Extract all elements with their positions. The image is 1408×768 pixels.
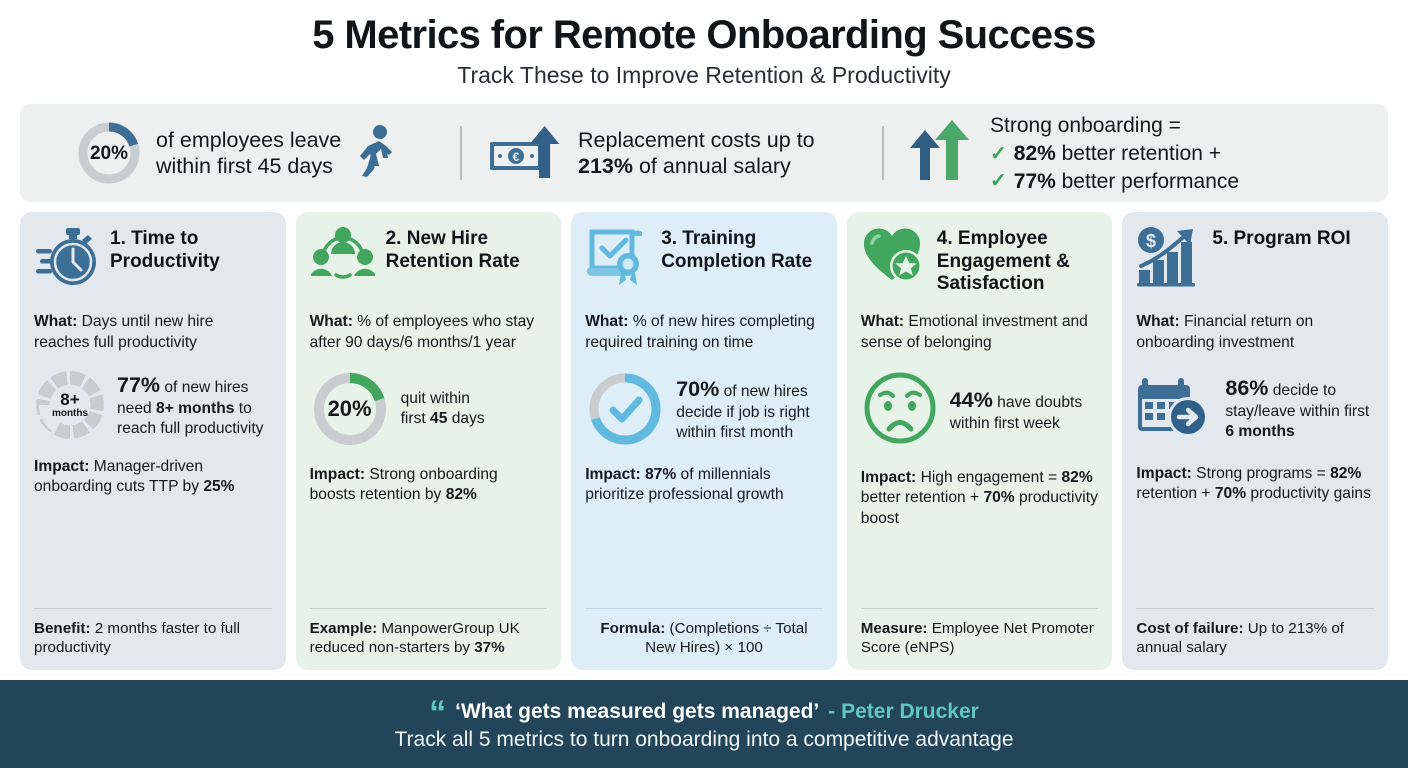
page-subtitle: Track These to Improve Retention & Produ… [0, 63, 1408, 88]
footer-quote-author: - Peter Drucker [828, 700, 979, 724]
decision-donut-check [585, 369, 665, 449]
footer-label: Benefit: [34, 620, 91, 637]
card-stat-text: 70% of new hires decide if job is right … [676, 376, 823, 443]
growth-chart-dollar-icon: $ [1136, 226, 1202, 288]
card-title: 2. New Hire Retention Rate [386, 226, 548, 272]
card-stat-text: 44% have doubts within first week [950, 387, 1099, 434]
impact-label: Impact: [310, 466, 365, 483]
worried-face-icon [861, 369, 939, 452]
turnover-donut-chart: 20% [76, 120, 142, 186]
check-icon: ✓ [990, 171, 1007, 191]
card-what: What: % of new hires completing required… [585, 312, 823, 353]
title-block: 5 Metrics for Remote Onboarding Success … [0, 0, 1408, 94]
card-impact: Impact: Strong programs = 82% retention … [1136, 464, 1374, 505]
svg-text:$: $ [1146, 231, 1156, 251]
card-stat-row: 20% quit withinfirst 45 days [310, 369, 548, 449]
what-label: What: [585, 313, 628, 330]
svg-text:€: € [513, 150, 520, 164]
cost-text: Replacement costs up to 213% of annual s… [578, 127, 815, 181]
turnover-line2: within first 45 days [156, 153, 341, 180]
card-stat-row: 86% decide to stay/leave within first 6 … [1136, 369, 1374, 448]
stats-banner: 20% of employees leave within first 45 d… [20, 104, 1388, 202]
card-header: 1. Time to Productivity [34, 226, 272, 300]
card-stat-row: 44% have doubts within first week [861, 369, 1099, 452]
footer-label: Example: [310, 620, 378, 637]
months-label: months [52, 409, 88, 419]
footer-quote: ‘What gets measured gets managed’ [455, 700, 819, 724]
card-header: 2. New Hire Retention Rate [310, 226, 548, 300]
page-title: 5 Metrics for Remote Onboarding Success [0, 14, 1408, 57]
card-footer-note: Formula: (Completions ÷ Total New Hires)… [585, 608, 823, 659]
metric-cards: 1. Time to Productivity What: Days until… [0, 202, 1408, 670]
card-title: 1. Time to Productivity [110, 226, 272, 272]
card-stat-row: 8+ months 77% of new hires need 8+ month… [34, 369, 272, 441]
what-label: What: [34, 313, 77, 330]
what-label: What: [861, 313, 904, 330]
strong-onboarding-item: ✓ 77% better performance [990, 168, 1239, 195]
card-what: What: Days until new hire reaches full p… [34, 312, 272, 353]
money-arrow-up-icon: € [488, 120, 562, 187]
banner-stat-turnover: 20% of employees leave within first 45 d… [20, 104, 460, 202]
card-what: What: Financial return on onboarding inv… [1136, 312, 1374, 353]
card-footer-note: Benefit: 2 months faster to full product… [34, 608, 272, 659]
footer-text: (Completions ÷ Total New Hires) × 100 [645, 620, 808, 657]
card-title: 3. Training Completion Rate [661, 226, 823, 272]
quit-rate-value: 20% [328, 398, 372, 420]
months-segmented-donut: 8+ months [34, 369, 106, 441]
card-spacer [1136, 505, 1374, 602]
footer-label: Measure: [861, 620, 928, 637]
months-value: 8+ [60, 391, 79, 408]
banner-stat-strong-onboarding: Strong onboarding = ✓ 82% better retenti… [884, 104, 1388, 202]
cost-line2-rest: of annual salary [633, 154, 791, 178]
turnover-donut-value: 20% [90, 144, 128, 163]
card-footer-note: Measure: Employee Net Promoter Score (eN… [861, 608, 1099, 659]
card-spacer [861, 529, 1099, 602]
footer-subtitle: Track all 5 metrics to turn onboarding i… [394, 728, 1013, 752]
card-what: What: Emotional investment and sense of … [861, 312, 1099, 353]
strong-onboarding-item: ✓ 82% better retention + [990, 140, 1239, 167]
retention-label: better retention + [1056, 142, 1221, 165]
walking-person-icon [355, 124, 395, 183]
metric-card-time-to-productivity: 1. Time to Productivity What: Days until… [20, 212, 286, 670]
impact-label: Impact: [1136, 465, 1191, 482]
card-impact: Impact: High engagement = 82% better ret… [861, 468, 1099, 529]
card-impact: Impact: 87% of millennials prioritize pr… [585, 465, 823, 506]
card-stat-text: 77% of new hires need 8+ months to reach… [117, 372, 272, 439]
footer-label: Cost of failure: [1136, 620, 1243, 637]
what-label: What: [1136, 313, 1179, 330]
footer-banner: “ ‘What gets measured gets managed’ - Pe… [0, 680, 1408, 768]
cost-value: 213% [578, 154, 633, 178]
turnover-line1: of employees leave [156, 127, 341, 154]
turnover-text: of employees leave within first 45 days [156, 127, 341, 181]
card-stat-text: quit withinfirst 45 days [401, 389, 485, 429]
people-group-icon [310, 226, 376, 286]
card-spacer [585, 506, 823, 602]
card-spacer [34, 498, 272, 602]
card-header: $ 5. Program ROI [1136, 226, 1374, 300]
card-footer-note: Cost of failure: Up to 213% of annual sa… [1136, 608, 1374, 659]
dual-arrows-up-icon [906, 118, 972, 189]
footer-quote-line: “ ‘What gets measured gets managed’ - Pe… [429, 697, 979, 724]
strong-onboarding-list: Strong onboarding = ✓ 82% better retenti… [990, 112, 1239, 195]
metric-card-training-completion: 3. Training Completion Rate What: % of n… [571, 212, 837, 670]
quote-mark-icon: “ [429, 703, 446, 723]
impact-label: Impact: [34, 458, 89, 475]
impact-label: Impact: [861, 469, 916, 486]
calendar-arrow-icon [1136, 369, 1214, 448]
stopwatch-icon [34, 226, 100, 288]
performance-label: better performance [1056, 170, 1239, 193]
cost-line2: 213% of annual salary [578, 153, 815, 180]
infographic-page: 5 Metrics for Remote Onboarding Success … [0, 0, 1408, 768]
card-stat-row: 70% of new hires decide if job is right … [585, 369, 823, 449]
metric-card-program-roi: $ 5. Program ROI What: Financial return … [1122, 212, 1388, 670]
card-spacer [310, 506, 548, 602]
card-what: What: % of employees who stay after 90 d… [310, 312, 548, 353]
card-impact: Impact: Manager-driven onboarding cuts T… [34, 457, 272, 498]
quit-rate-donut: 20% [310, 369, 390, 449]
retention-value: 82% [1014, 142, 1056, 165]
what-label: What: [310, 313, 353, 330]
card-title: 5. Program ROI [1212, 226, 1350, 250]
performance-value: 77% [1014, 170, 1056, 193]
card-title: 4. Employee Engagement & Satisfaction [937, 226, 1099, 295]
strong-onboarding-heading: Strong onboarding = [990, 112, 1239, 139]
footer-label: Formula: [600, 620, 665, 637]
metric-card-employee-engagement: 4. Employee Engagement & Satisfaction Wh… [847, 212, 1113, 670]
banner-stat-cost: € Replacement costs up to 213% of annual… [462, 104, 882, 202]
card-impact: Impact: Strong onboarding boosts retenti… [310, 465, 548, 506]
heart-star-icon [861, 226, 927, 286]
card-header: 3. Training Completion Rate [585, 226, 823, 300]
card-stat-text: 86% decide to stay/leave within first 6 … [1225, 375, 1374, 442]
check-icon: ✓ [990, 144, 1007, 164]
card-header: 4. Employee Engagement & Satisfaction [861, 226, 1099, 300]
certificate-check-icon [585, 226, 651, 288]
cost-line1: Replacement costs up to [578, 127, 815, 154]
card-footer-note: Example: ManpowerGroup UK reduced non-st… [310, 608, 548, 659]
impact-label: Impact: [585, 466, 640, 483]
metric-card-new-hire-retention: 2. New Hire Retention Rate What: % of em… [296, 212, 562, 670]
